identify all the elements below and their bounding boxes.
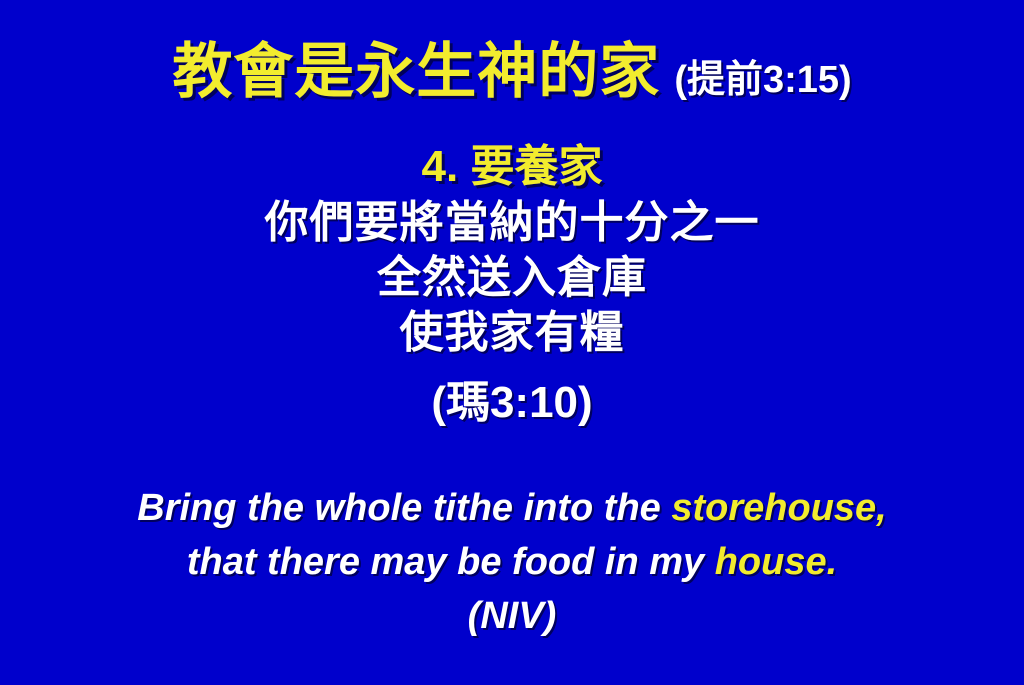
title-scripture-reference: (提前3:15) [674, 59, 851, 101]
english-verse-line-1: Bring the whole tithe into the storehous… [0, 482, 1024, 536]
slide-canvas: 教會是永生神的家(提前3:15) 4. 要養家 你們要將當納的十分之一 全然送入… [0, 0, 1024, 685]
chinese-verse-block: 4. 要養家 你們要將當納的十分之一 全然送入倉庫 使我家有糧 (瑪3:10) [0, 140, 1024, 430]
section-heading: 4. 要養家 [0, 140, 1024, 195]
page-title: 教會是永生神的家 [172, 38, 660, 105]
english-verse-line-2: that there may be food in my house. [0, 536, 1024, 590]
english-line-1-text: Bring the whole tithe into the [137, 487, 671, 529]
slide-title: 教會是永生神的家(提前3:15) [0, 42, 1024, 102]
chinese-verse-line-2: 全然送入倉庫 [0, 250, 1024, 305]
english-line-1-highlight: storehouse, [671, 487, 886, 529]
bible-version-label: (NIV) [0, 590, 1024, 644]
chinese-verse-line-1: 你們要將當納的十分之一 [0, 195, 1024, 250]
english-line-2-text: that there may be food in my [187, 541, 715, 583]
english-verse-block: Bring the whole tithe into the storehous… [0, 482, 1024, 644]
chinese-verse-line-3: 使我家有糧 [0, 305, 1024, 360]
english-line-2-highlight: house. [715, 541, 837, 583]
chinese-scripture-reference: (瑪3:10) [0, 375, 1024, 430]
